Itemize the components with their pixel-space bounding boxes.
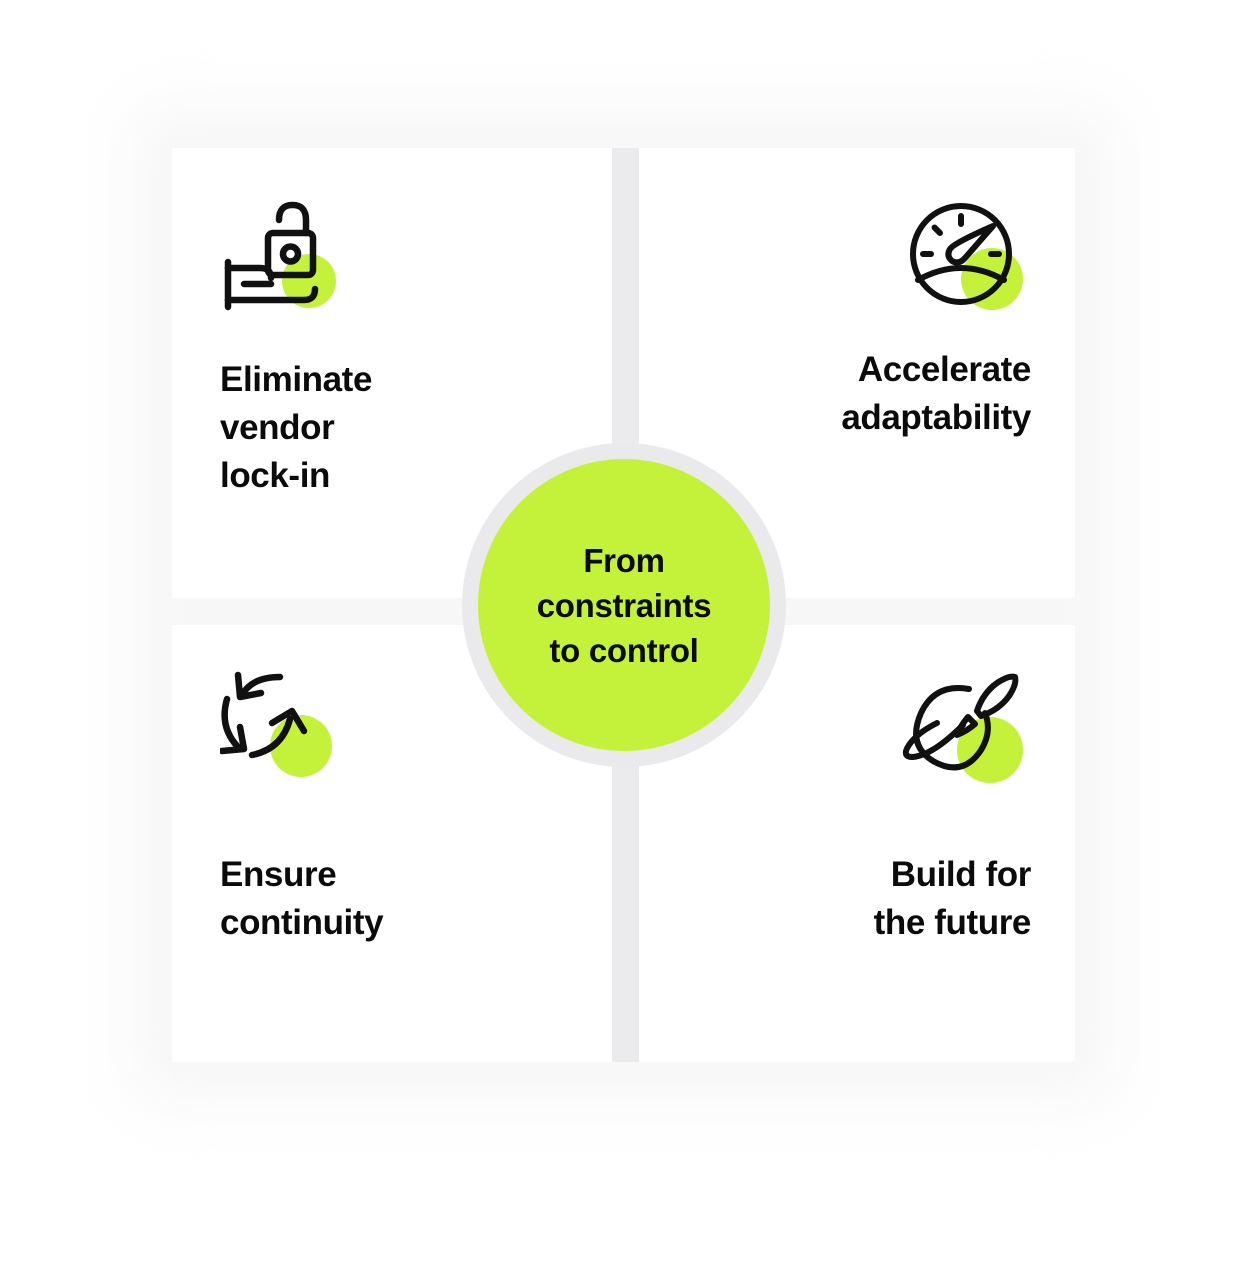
icon-container-top-right	[899, 196, 1031, 318]
open-padlock-hand-icon	[220, 196, 352, 318]
cycle-arrows-icon	[220, 665, 352, 787]
icon-container-bottom-left	[220, 665, 352, 787]
speedometer-gauge-icon	[899, 196, 1031, 318]
infographic-canvas: Eliminate vendor lock-in	[0, 0, 1247, 1266]
quadrant-title: Ensure continuity	[220, 851, 572, 947]
quadrant-title: Build for the future	[679, 851, 1031, 947]
icon-container-bottom-right	[899, 665, 1031, 787]
center-hub-circle[interactable]: From constraints to control	[478, 459, 770, 751]
center-hub-ring: From constraints to control	[462, 443, 786, 767]
icon-container-top-left	[220, 196, 352, 318]
quadrant-title: Accelerate adaptability	[679, 346, 1031, 442]
quadrant-title: Eliminate vendor lock-in	[220, 356, 572, 500]
planet-rocket-icon	[899, 665, 1031, 787]
center-hub-label: From constraints to control	[537, 538, 712, 673]
